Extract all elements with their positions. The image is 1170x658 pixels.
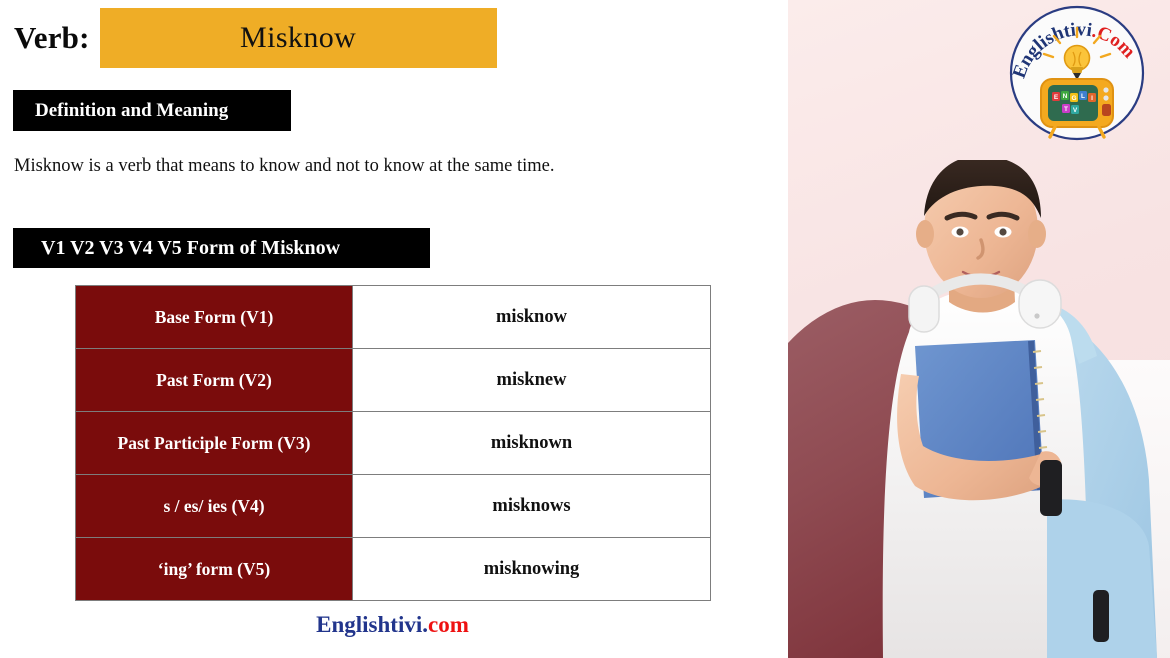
footer-brand-tld: com xyxy=(428,612,469,637)
svg-text:T: T xyxy=(1064,106,1068,113)
definition-paragraph: Misknow is a verb that means to know and… xyxy=(14,154,754,178)
table-row: ‘ing’ form (V5)misknowing xyxy=(76,538,711,601)
svg-text:G: G xyxy=(1071,95,1076,102)
verb-value-chip: Misknow xyxy=(100,8,497,68)
verb-form-value: misknown xyxy=(353,412,711,475)
verb-forms-table: Base Form (V1)misknowPast Form (V2)miskn… xyxy=(75,285,711,601)
verb-form-label: Past Participle Form (V3) xyxy=(76,412,353,475)
verb-form-value: misknowing xyxy=(353,538,711,601)
verb-form-value: misknow xyxy=(353,286,711,349)
forms-section-badge: V1 V2 V3 V4 V5 Form of Misknow xyxy=(13,228,430,268)
table-row: s / es/ ies (V4)misknows xyxy=(76,475,711,538)
footer-brand-main: Englishtivi xyxy=(316,612,422,637)
student-photo xyxy=(797,160,1170,658)
slide-canvas: Englishtivi.Com E N G xyxy=(0,0,1170,658)
verb-value: Misknow xyxy=(240,21,356,55)
svg-text:E: E xyxy=(1054,94,1059,101)
verb-header-row: Verb: Misknow xyxy=(14,8,497,68)
definition-section-badge: Definition and Meaning xyxy=(13,90,291,131)
verb-form-label: Past Form (V2) xyxy=(76,349,353,412)
englishtivi-logo: Englishtivi.Com E N G xyxy=(1007,3,1147,143)
verb-label: Verb: xyxy=(14,8,100,68)
table-row: Past Form (V2)misknew xyxy=(76,349,711,412)
table-row: Base Form (V1)misknow xyxy=(76,286,711,349)
verb-form-label: s / es/ ies (V4) xyxy=(76,475,353,538)
footer-brand: Englishtivi.com xyxy=(75,612,710,638)
svg-text:L: L xyxy=(1081,93,1085,100)
verb-form-label: Base Form (V1) xyxy=(76,286,353,349)
svg-text:V: V xyxy=(1073,107,1078,114)
verb-forms-table-body: Base Form (V1)misknowPast Form (V2)miskn… xyxy=(76,286,711,601)
verb-form-value: misknew xyxy=(353,349,711,412)
table-row: Past Participle Form (V3)misknown xyxy=(76,412,711,475)
verb-form-value: misknows xyxy=(353,475,711,538)
svg-text:N: N xyxy=(1063,93,1068,100)
verb-form-label: ‘ing’ form (V5) xyxy=(76,538,353,601)
svg-text:I: I xyxy=(1091,95,1093,102)
